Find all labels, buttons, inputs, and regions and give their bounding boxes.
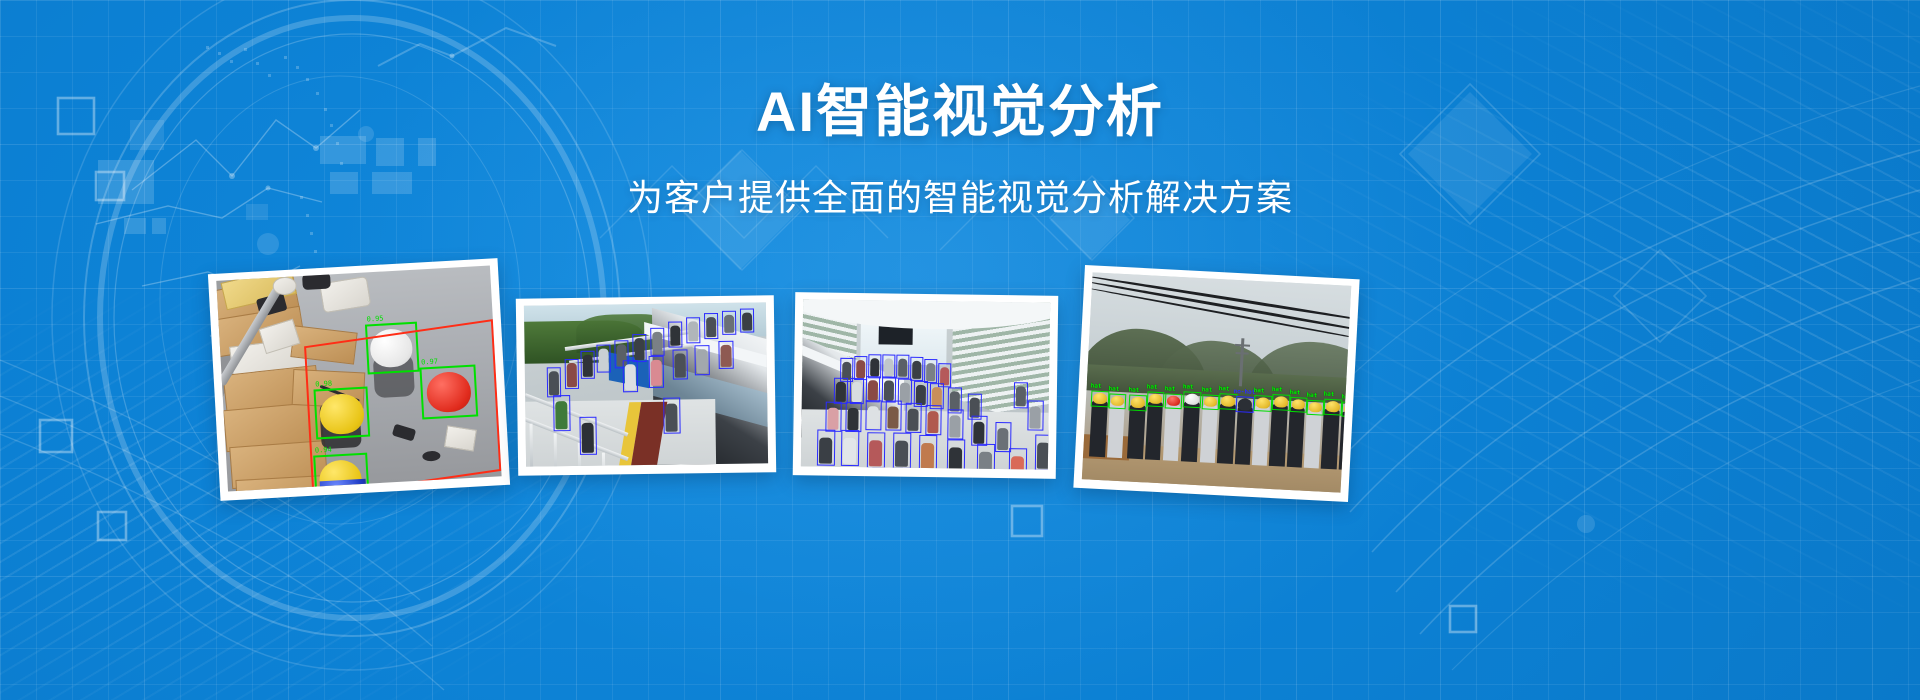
scene-outdoor-hat-detection: hat hat hat hat hat hat hat	[1082, 272, 1351, 492]
gallery-photo-card-1[interactable]: 0.98 0.95 0.97 0.94	[208, 258, 510, 501]
scene-warehouse-helmet-detection: 0.98 0.95 0.97 0.94	[216, 266, 501, 492]
scene-station-crowd-density	[801, 299, 1050, 469]
gallery-photo-card-2[interactable]	[516, 295, 776, 476]
headline-block: AI智能视觉分析 为客户提供全面的智能视觉分析解决方案	[0, 84, 1920, 216]
page-title: AI智能视觉分析	[0, 84, 1920, 140]
ai-vision-banner: AI智能视觉分析 为客户提供全面的智能视觉分析解决方案	[0, 0, 1920, 700]
gallery-strip: 0.98 0.95 0.97 0.94	[0, 258, 1920, 518]
gallery-photo-card-4[interactable]: hat hat hat hat hat hat hat	[1073, 265, 1359, 502]
page-subtitle: 为客户提供全面的智能视觉分析解决方案	[0, 180, 1920, 216]
gallery-photo-card-3[interactable]	[793, 292, 1059, 479]
scene-bridge-person-detection	[524, 302, 768, 466]
